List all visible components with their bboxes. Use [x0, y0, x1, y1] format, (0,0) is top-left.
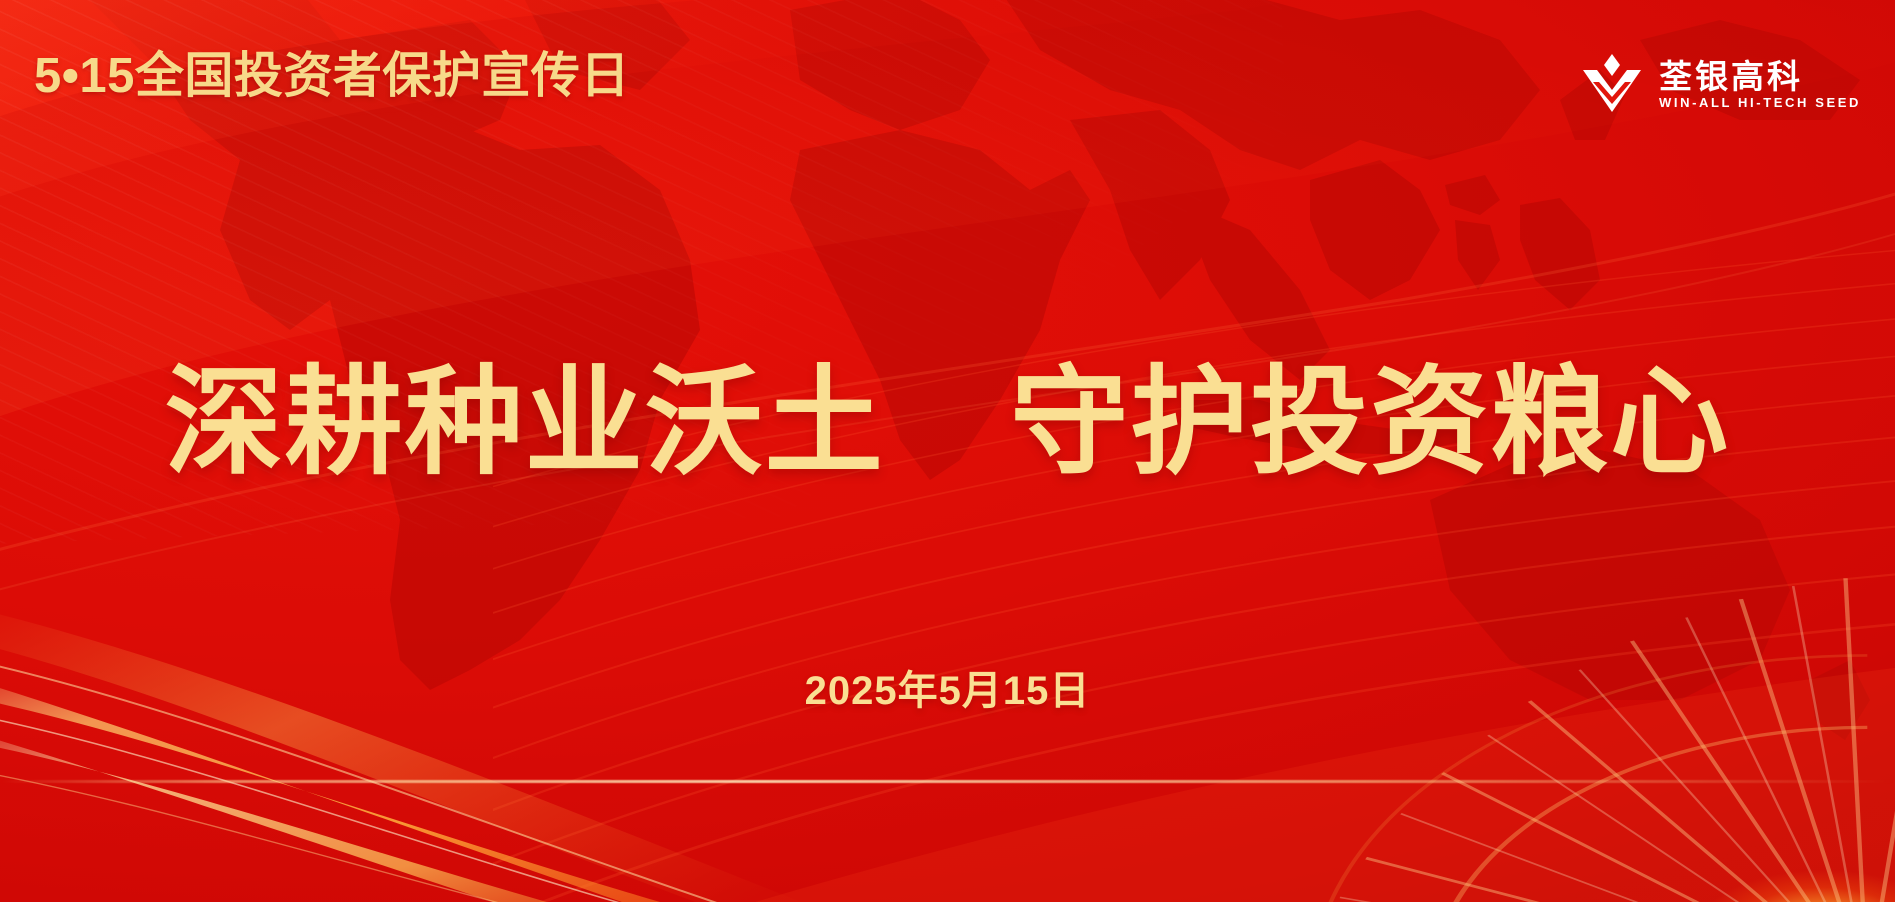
main-headline: 深耕种业沃土 守护投资粮心: [0, 352, 1895, 496]
logo-name-cn: 荃银高科: [1659, 60, 1861, 93]
event-date: 2025年5月15日: [0, 658, 1895, 716]
logo-name-en: WIN-ALL HI-TECH SEED: [1659, 96, 1861, 109]
chevron-diamond-icon: [1581, 52, 1643, 116]
banner-content: 5•15全国投资者保护宣传日 荃银高科 WIN-ALL HI-TECH SEED…: [0, 0, 1895, 902]
investor-protection-banner: 5•15全国投资者保护宣传日 荃银高科 WIN-ALL HI-TECH SEED…: [0, 0, 1895, 902]
campaign-eyebrow-text: 5•15全国投资者保护宣传日: [34, 50, 630, 103]
headline-phrase-right: 守护投资粮心: [1010, 357, 1730, 489]
headline-phrase-left: 深耕种业沃土: [165, 357, 885, 489]
company-logo: 荃银高科 WIN-ALL HI-TECH SEED: [1581, 52, 1861, 116]
logo-wordmark: 荃银高科 WIN-ALL HI-TECH SEED: [1659, 60, 1861, 109]
